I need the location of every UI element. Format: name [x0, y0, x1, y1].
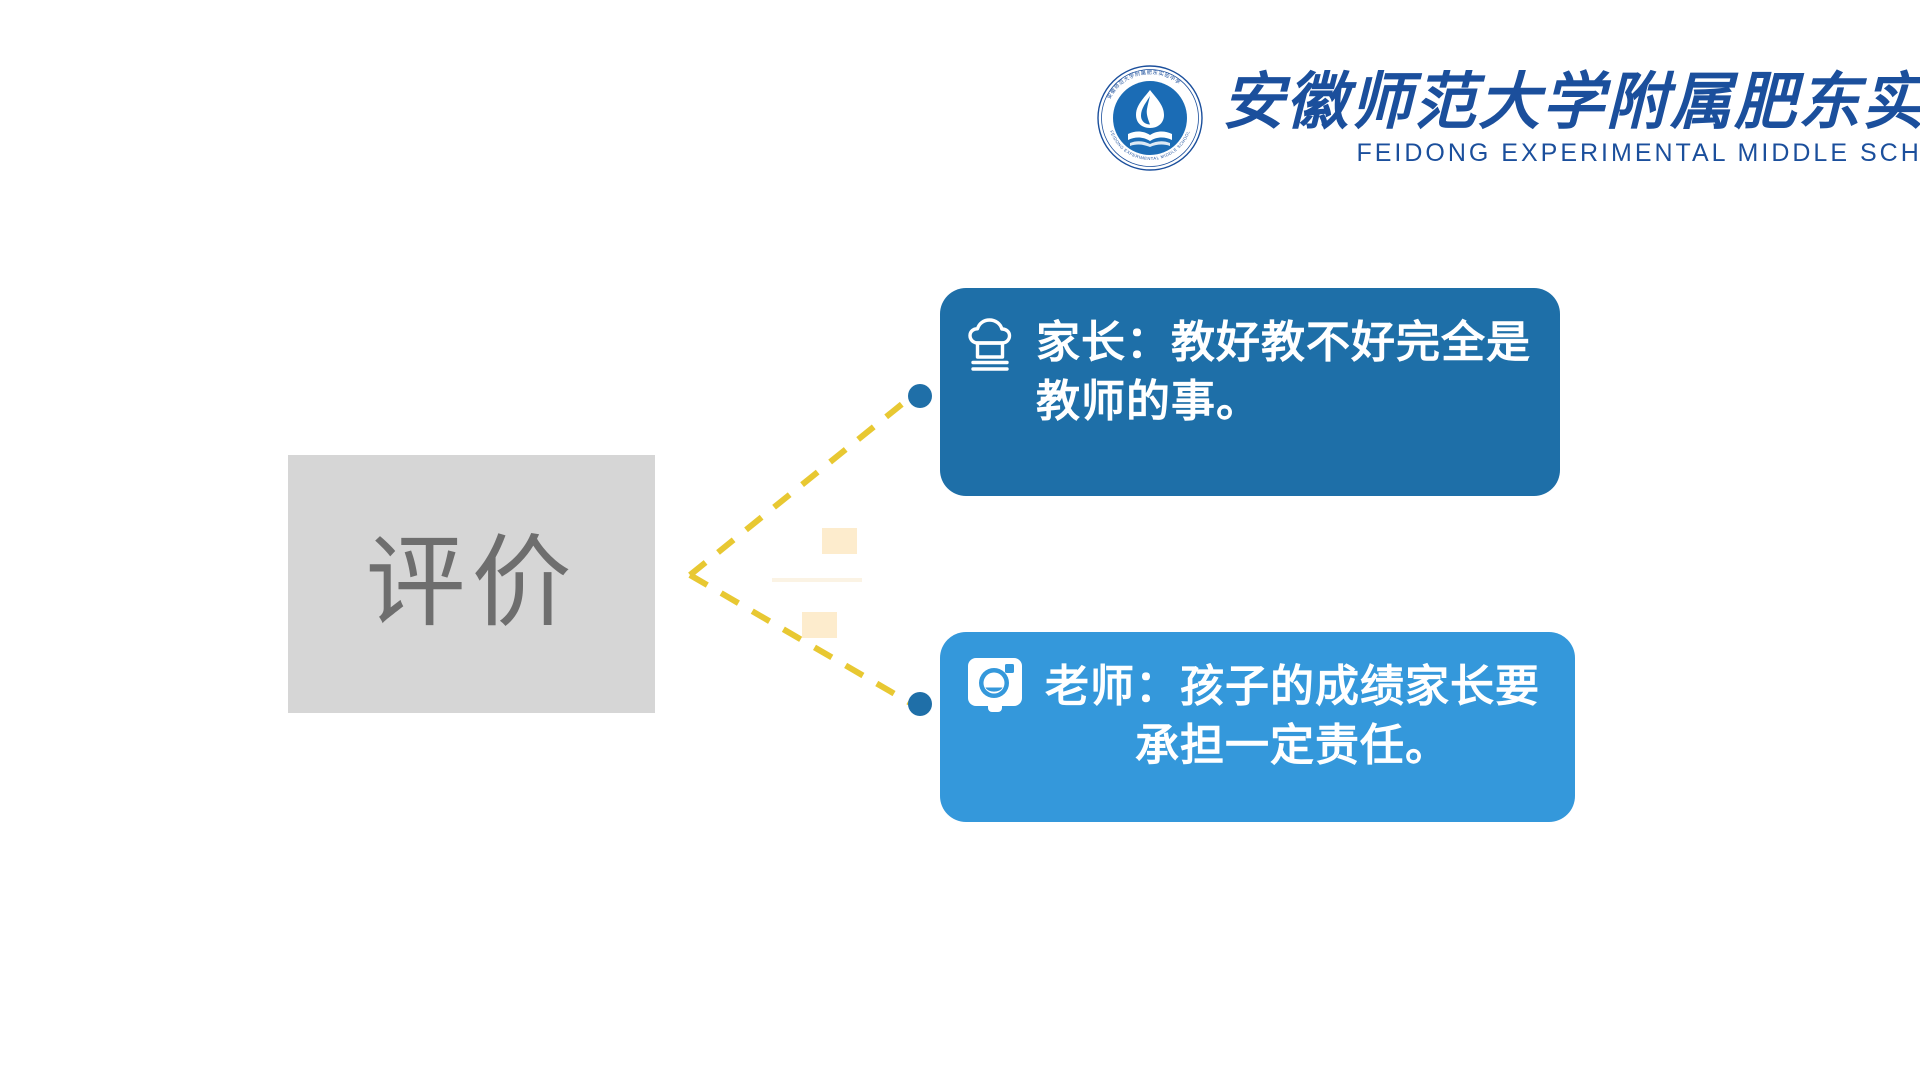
message-card-parent-text: 家长：教好教不好完全是教师的事。 [1036, 312, 1534, 432]
decorative-square-upper [822, 528, 857, 554]
chef-hat-icon [964, 316, 1026, 378]
slide-canvas: 安徽师范大学附属肥东实验中学 FEIDONG EXPERIMENTAL MIDD… [0, 0, 1920, 1080]
school-emblem-icon: 安徽师范大学附属肥东实验中学 FEIDONG EXPERIMENTAL MIDD… [1096, 64, 1204, 172]
school-logo: 安徽师范大学附属肥东实验中学 FEIDONG EXPERIMENTAL MIDD… [1096, 58, 1846, 178]
topic-box: 评价 [288, 455, 655, 713]
school-name-chinese: 安徽师范大学附属肥东实验中学 [1222, 72, 1920, 135]
topic-label: 评价 [366, 534, 578, 634]
school-name-block: 安徽师范大学附属肥东实验中学 FEIDONG EXPERIMENTAL MIDD… [1222, 68, 1920, 168]
decorative-square-lower [802, 612, 837, 638]
school-name-english: FEIDONG EXPERIMENTAL MIDDLE SCHOOL [1222, 140, 1920, 168]
message-card-parent[interactable]: 家长：教好教不好完全是教师的事。 [940, 288, 1560, 496]
branch-dot-teacher [908, 692, 932, 716]
message-card-teacher[interactable]: 老师：孩子的成绩家长要承担一定责任。 [940, 632, 1575, 822]
message-card-teacher-text: 老师：孩子的成绩家长要承担一定责任。 [1036, 650, 1549, 776]
decorative-line [772, 578, 862, 582]
branch-dot-parent [908, 384, 932, 408]
camera-badge-icon [964, 654, 1026, 716]
